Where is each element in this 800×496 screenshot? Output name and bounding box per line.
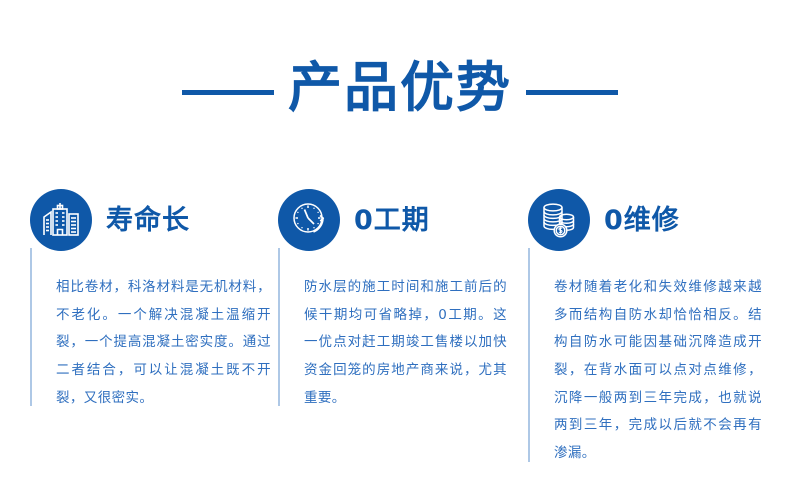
feature-body: 相比卷材，科洛材料是无机材料，不老化。一个解决混凝土温缩开裂，一个提高混凝土密实… [30, 274, 268, 412]
feature-body: 卷材随着老化和失效维修越来越多而结构自防水却恰恰相反。结构自防水可能因基础沉降造… [528, 274, 800, 468]
feature-description: 防水层的施工时间和施工前后的候干期均可省略掉，0工期。这一优点对赶工期竣工售楼以… [304, 274, 507, 412]
feature-columns: 寿命长 相比卷材，科洛材料是无机材料，不老化。一个解决混凝土温缩开裂，一个提高混… [0, 188, 800, 468]
building-icon [30, 189, 92, 251]
page-title: 产品优势 [288, 61, 512, 115]
clock-icon [278, 189, 340, 251]
feature-title: 寿命长 [106, 207, 190, 234]
page-title-block: 产品优势 [0, 52, 800, 124]
feature-header: 0工期 [278, 188, 513, 252]
title-rule-right [526, 90, 618, 95]
feature-header: 0维修 [528, 188, 800, 252]
feature-header: 寿命长 [30, 188, 268, 252]
feature-title: 0工期 [354, 207, 430, 234]
feature-description: 卷材随着老化和失效维修越来越多而结构自防水却恰恰相反。结构自防水可能因基础沉降造… [554, 274, 762, 468]
feature-column-zero-construction-period: 0工期 防水层的施工时间和施工前后的候干期均可省略掉，0工期。这一优点对赶工期竣… [268, 188, 513, 468]
coins-icon [528, 189, 590, 251]
title-rule-left [182, 90, 274, 95]
feature-column-lifespan: 寿命长 相比卷材，科洛材料是无机材料，不老化。一个解决混凝土温缩开裂，一个提高混… [0, 188, 268, 468]
feature-description: 相比卷材，科洛材料是无机材料，不老化。一个解决混凝土温缩开裂，一个提高混凝土密实… [56, 274, 271, 412]
column-divider-line [278, 248, 280, 406]
feature-body: 防水层的施工时间和施工前后的候干期均可省略掉，0工期。这一优点对赶工期竣工售楼以… [278, 274, 513, 412]
feature-column-zero-maintenance: 0维修 卷材随着老化和失效维修越来越多而结构自防水却恰恰相反。结构自防水可能因基… [513, 188, 800, 468]
column-divider-line [30, 248, 32, 406]
feature-title: 0维修 [604, 207, 680, 234]
column-divider-line [528, 248, 530, 462]
